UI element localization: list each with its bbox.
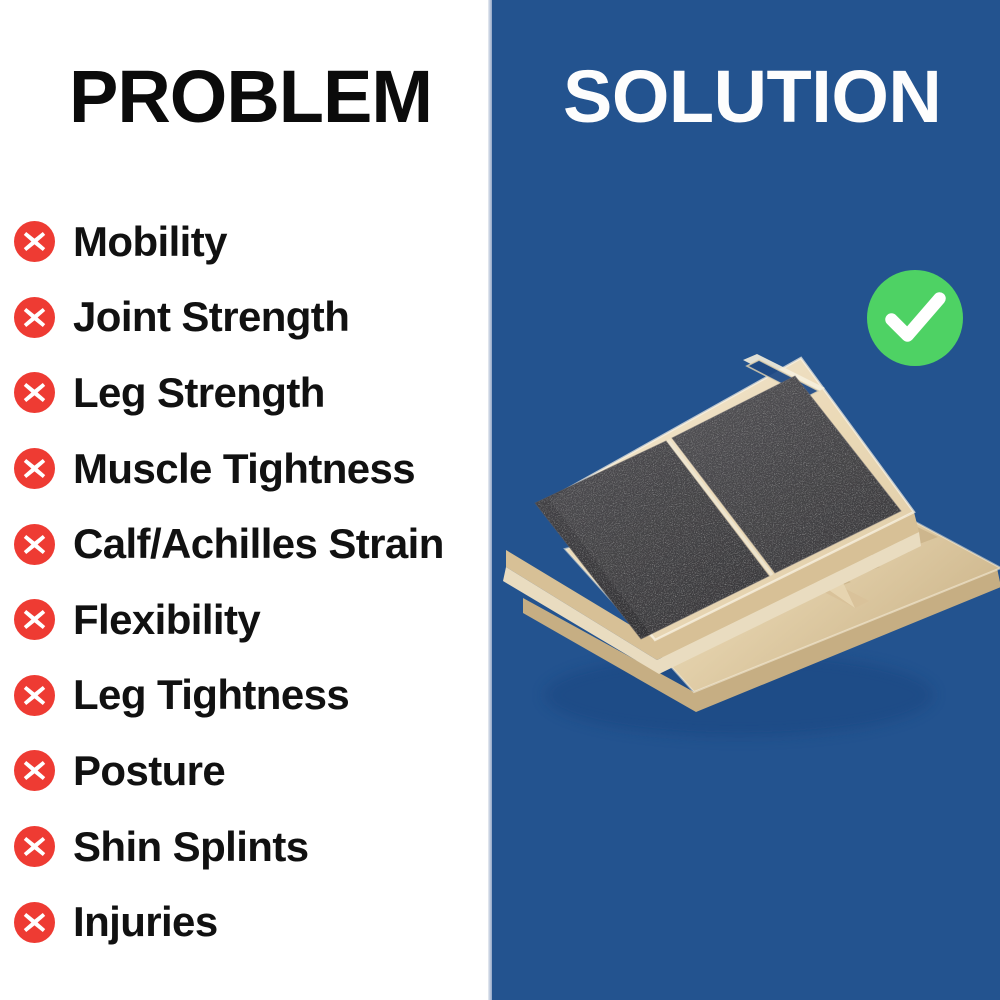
list-item-label: Leg Tightness <box>73 674 349 716</box>
list-item: Calf/Achilles Strain <box>14 506 514 582</box>
list-item-label: Muscle Tightness <box>73 448 415 490</box>
solution-title: SOLUTION <box>563 57 941 137</box>
x-circle-icon <box>14 448 55 489</box>
x-circle-icon <box>14 902 55 943</box>
x-circle-icon <box>14 675 55 716</box>
problem-title: PROBLEM <box>69 57 432 137</box>
list-item-label: Leg Strength <box>73 372 325 414</box>
x-circle-icon <box>14 297 55 338</box>
list-item: Mobility <box>14 204 514 280</box>
list-item: Posture <box>14 733 514 809</box>
list-item-label: Calf/Achilles Strain <box>73 523 444 565</box>
x-circle-icon <box>14 599 55 640</box>
list-item-label: Flexibility <box>73 599 260 641</box>
solution-panel: SOLUTION <box>489 0 1000 1000</box>
list-item-label: Posture <box>73 750 225 792</box>
list-item: Injuries <box>14 884 514 960</box>
list-item-label: Shin Splints <box>73 826 308 868</box>
list-item: Flexibility <box>14 582 514 658</box>
check-circle-icon <box>867 270 963 366</box>
x-circle-icon <box>14 750 55 791</box>
list-item-label: Mobility <box>73 221 227 263</box>
list-item-label: Injuries <box>73 901 218 943</box>
list-item: Leg Tightness <box>14 658 514 734</box>
comparison-graphic: PROBLEM Mobility Joint Strength <box>0 0 1000 1000</box>
x-circle-icon <box>14 524 55 565</box>
list-item: Muscle Tightness <box>14 431 514 507</box>
list-item: Joint Strength <box>14 280 514 356</box>
list-item-label: Joint Strength <box>73 296 349 338</box>
x-circle-icon <box>14 826 55 867</box>
x-circle-icon <box>14 372 55 413</box>
x-circle-icon <box>14 221 55 262</box>
product-image-slant-board <box>489 300 1000 770</box>
problem-list: Mobility Joint Strength Leg Strength <box>14 204 514 960</box>
problem-panel: PROBLEM Mobility Joint Strength <box>0 0 489 1000</box>
list-item: Shin Splints <box>14 809 514 885</box>
list-item: Leg Strength <box>14 355 514 431</box>
